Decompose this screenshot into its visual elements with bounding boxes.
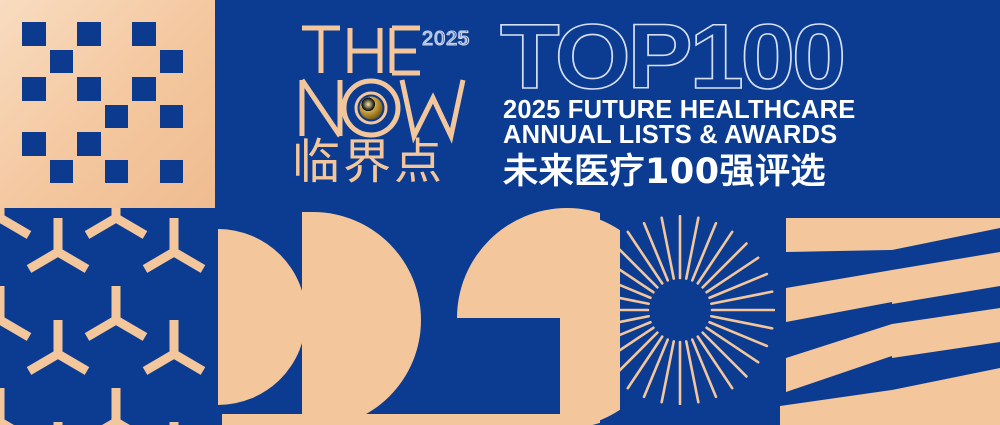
checker-cell bbox=[22, 132, 46, 156]
chevron-stripes bbox=[780, 200, 1000, 425]
bottom-bleed-band bbox=[222, 414, 562, 425]
checker-cell bbox=[160, 50, 184, 74]
awards-banner: 2025 2025 临界点 TOP100 2025 FUTURE HEALTHC… bbox=[0, 0, 1000, 425]
checker-cell bbox=[160, 105, 184, 129]
logo-chinese-name: 临界点 bbox=[292, 136, 492, 188]
the-now-logo: 2025 2025 临界点 bbox=[292, 18, 492, 188]
sunburst-rays bbox=[585, 215, 775, 405]
checker-cell bbox=[50, 160, 74, 184]
checker-cell bbox=[22, 22, 46, 46]
checker-cell bbox=[77, 77, 101, 101]
checker-cell bbox=[160, 160, 184, 184]
checker-cell bbox=[105, 105, 129, 129]
checkerboard-pattern bbox=[0, 0, 215, 208]
checker-cell bbox=[132, 22, 156, 46]
svg-text:TOP100: TOP100 bbox=[500, 18, 843, 100]
gold-sphere-emblem bbox=[355, 92, 387, 124]
english-line-2: ANNUAL LISTS & AWARDS bbox=[503, 123, 843, 148]
circle-shapes-row bbox=[200, 200, 600, 425]
english-line-1: 2025 FUTURE HEALTHCARE bbox=[503, 98, 843, 123]
headline-text-block: 2025 FUTURE HEALTHCARE ANNUAL LISTS & AW… bbox=[503, 98, 843, 193]
hexagon-lattice-pattern bbox=[0, 208, 218, 425]
checker-cell bbox=[132, 77, 156, 101]
chinese-line: 未来医疗100强评选 bbox=[503, 151, 843, 193]
checker-cell bbox=[77, 132, 101, 156]
checker-cell bbox=[50, 50, 74, 74]
checker-cell bbox=[22, 77, 46, 101]
checker-cell bbox=[77, 22, 101, 46]
top100-title: TOP100 bbox=[500, 18, 845, 98]
checker-cell bbox=[105, 160, 129, 184]
svg-text:2025: 2025 bbox=[422, 29, 468, 50]
